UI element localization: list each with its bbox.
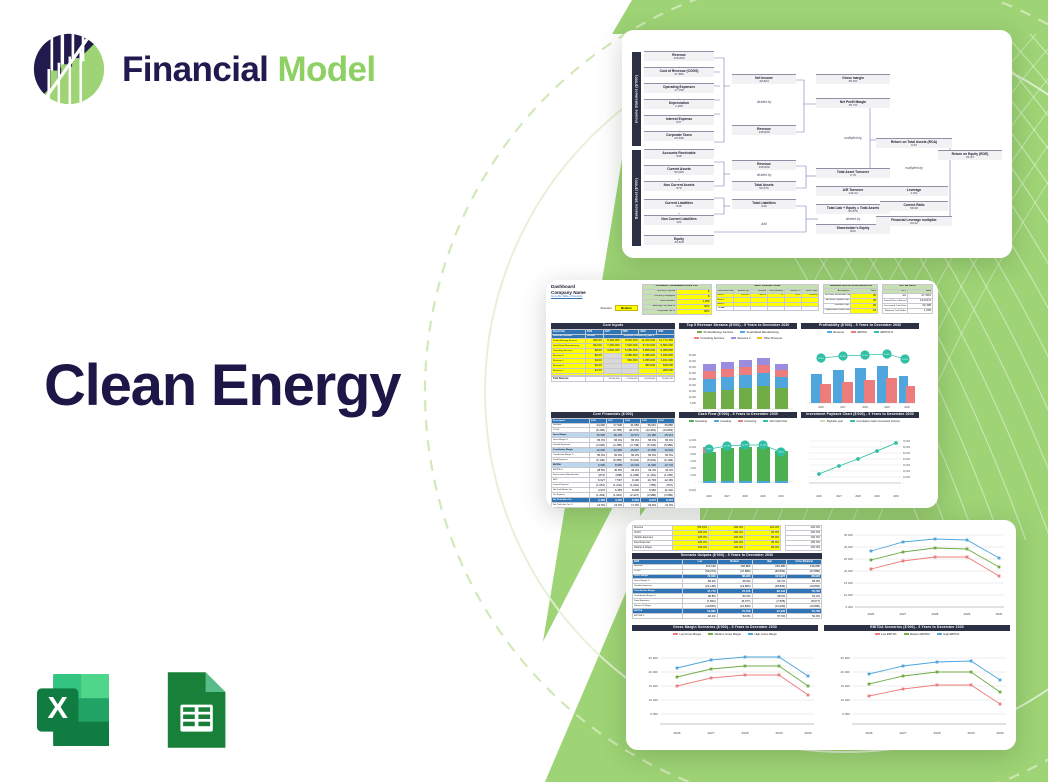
svg-text:2029: 2029 <box>760 495 766 498</box>
svg-text:45,000: 45,000 <box>689 354 697 357</box>
node-equity: Equity 49,628 <box>644 235 714 245</box>
svg-text:2026: 2026 <box>674 731 681 735</box>
svg-text:2026: 2026 <box>868 612 875 616</box>
svg-text:5,000: 5,000 <box>690 402 697 405</box>
node-revenue: Revenue 136,800 <box>644 51 714 61</box>
svg-text:28.8%: 28.8% <box>818 358 824 360</box>
svg-text:2028: 2028 <box>932 612 939 616</box>
svg-text:-: - <box>695 408 696 411</box>
financial-ratio-tree-screenshot[interactable]: Income Statement ($'000) Balance Sheet (… <box>622 30 1012 258</box>
svg-text:4,000: 4,000 <box>690 468 696 470</box>
svg-text:2028: 2028 <box>934 731 941 735</box>
node-accounts-receivable: Accounts Receivable 948 <box>644 149 714 159</box>
svg-text:20,000: 20,000 <box>649 670 659 674</box>
gross-margin-scenarios-chart[interactable]: Gross Margin Scenarios ($'000) - 5 Years… <box>632 625 818 735</box>
key-metrics-panel: KEY METRICS NPVValue IRR47.48% Internal … <box>882 284 933 314</box>
node-total-liab-equity: Total Liab + Equity = Total Assets 50,57… <box>816 204 890 214</box>
svg-text:10,000: 10,000 <box>649 698 659 702</box>
svg-text:6,849: 6,849 <box>706 449 712 451</box>
svg-text:15,000: 15,000 <box>841 684 851 688</box>
node-financial-leverage-multiplier: Financial Leverage multiplier 63.22 <box>876 216 952 226</box>
section-tab-balance-sheet: Balance Sheet ($'000) <box>632 150 641 246</box>
svg-text:30.8%: 30.8% <box>840 356 846 358</box>
chart-canvas-payback: 70,00060,00050,000 40,00030,00020,000 10… <box>801 424 919 508</box>
svg-text:20,000: 20,000 <box>903 471 911 473</box>
top-revenue-streams-chart[interactable]: Top 5 Revenue Streams ($'000) - 5 Years … <box>679 323 797 409</box>
svg-text:20,000: 20,000 <box>841 670 851 674</box>
table-row: Minimum Cash Buffer1,000 <box>883 308 933 313</box>
node-revenue-ta: Revenue 136,800 <box>732 160 796 170</box>
node-net-income: Net Income 48,824 <box>732 74 796 84</box>
table-row: EBITDA %42.1%52.0%57.0%52.0% <box>633 614 822 619</box>
svg-text:2028: 2028 <box>855 495 861 498</box>
svg-text:2029: 2029 <box>884 406 890 409</box>
brand-word-financial: Financial <box>122 50 268 89</box>
chart-canvas-cash-flow: 12,00010,0008,000 6,0004,0002,000 -(2,00… <box>679 424 797 508</box>
svg-text:25,000: 25,000 <box>649 656 659 660</box>
svg-text:10,000: 10,000 <box>689 396 697 399</box>
svg-text:50,000: 50,000 <box>903 453 911 455</box>
left-content-panel: Financial Model Clean Energy X <box>0 0 470 782</box>
svg-text:5,000: 5,000 <box>650 712 658 716</box>
chart-canvas-gross-margin-scenarios: 25,00020,00015,000 10,0005,000 <box>632 637 818 747</box>
svg-text:34.4%: 34.4% <box>902 359 908 361</box>
node-current-assets: Current Assets 50,006 <box>644 165 714 175</box>
svg-text:2027: 2027 <box>900 731 907 735</box>
operator-add: Add <box>732 222 796 226</box>
svg-text:2027: 2027 <box>836 495 842 498</box>
svg-text:35,000: 35,000 <box>844 533 854 537</box>
brand-wordmark: Financial Model <box>122 52 376 87</box>
microsoft-excel-icon: X <box>28 665 118 755</box>
svg-text:15,000: 15,000 <box>844 581 854 585</box>
svg-text:2030: 2030 <box>904 406 910 409</box>
svg-text:30,000: 30,000 <box>689 372 697 375</box>
svg-text:40,000: 40,000 <box>689 360 697 363</box>
core-inputs-table[interactable]: Fiscal Year 2026 2027 2028 2029 2030 Rev… <box>551 329 675 382</box>
node-ar-turnover: A/R Turnover 144.24 <box>816 186 890 196</box>
dashboard-header: Dashboard Company Name Go to the Table o… <box>551 284 638 311</box>
core-financials-section: Core Financials ($'000) Description 2026… <box>551 412 675 500</box>
node-gross-margin: Gross margin 65.0% <box>816 74 890 84</box>
scenario-selector[interactable]: Medium <box>615 305 638 311</box>
scenario-label: Scenario <box>600 306 611 310</box>
svg-text:20,000: 20,000 <box>844 569 854 573</box>
scenario-assumptions-table[interactable]: Revenue(85.0)%100.0%110.0%100.0% COGS105… <box>632 525 822 551</box>
core-financials-table[interactable]: Description 2026 2027 2028 2029 2030 Rev… <box>551 418 675 508</box>
debt-assumptions-panel: DEBT ASSUMPTIONS Loan/Grant Name Amount … <box>716 284 820 311</box>
currency-denomination-panel: CURRENCY DENOMINATION & TAX Currency Sym… <box>642 284 712 315</box>
node-interest-expense: Interest Expense 537 <box>644 115 714 125</box>
node-leverage: Leverage 1.9% <box>880 186 948 196</box>
svg-text:25,000: 25,000 <box>844 557 854 561</box>
svg-text:10,739: 10,739 <box>724 446 731 448</box>
cash-flow-chart[interactable]: Cash Flow ($'000) - 5 Years to December … <box>679 412 797 500</box>
node-revenue-denominator: Revenue 136,800 <box>732 125 796 135</box>
svg-text:2026: 2026 <box>818 406 824 409</box>
brand-word-model: Model <box>277 50 375 89</box>
svg-text:2027: 2027 <box>708 731 715 735</box>
svg-text:25,000: 25,000 <box>689 378 697 381</box>
svg-text:2029: 2029 <box>776 731 783 735</box>
section-tab-income-statement: Income Statement ($'000) <box>632 52 641 146</box>
page-title: Clean Energy <box>44 356 400 417</box>
node-total-assets: Total Assets 50,576 <box>732 181 796 191</box>
svg-text:11,792: 11,792 <box>742 445 749 447</box>
svg-text:2,000: 2,000 <box>690 475 696 477</box>
svg-text:2030: 2030 <box>997 731 1004 735</box>
scenario-outputs-table[interactable]: 2030 Low Medium High Active (Medium) Rev… <box>632 559 822 619</box>
dupont-ratio-tree: Income Statement ($'000) Balance Sheet (… <box>628 36 1006 252</box>
svg-text:2026: 2026 <box>706 495 712 498</box>
table-of-contents-link[interactable]: Go to the Table of Contents <box>551 295 638 298</box>
node-current-ratio: Current Ratio 58.98 <box>880 201 948 211</box>
svg-text:2027: 2027 <box>724 495 730 498</box>
chart-canvas-revenue-scenarios: 35,00030,00025,000 20,00015,00010,000 5,… <box>828 525 1010 621</box>
svg-text:40,000: 40,000 <box>903 459 911 461</box>
financial-dashboard-screenshot[interactable]: Dashboard Company Name Go to the Table o… <box>546 280 938 508</box>
svg-text:60,000: 60,000 <box>903 447 911 449</box>
svg-text:10,000: 10,000 <box>689 447 697 449</box>
core-inputs-section: Core Inputs Fiscal Year 2026 2027 2028 2… <box>551 323 675 409</box>
svg-text:-: - <box>903 483 904 485</box>
node-non-current-liabilities: Non Current Liabilities 101 <box>644 215 714 225</box>
node-non-current-assets: Non Current Assets 570 <box>644 181 714 191</box>
svg-text:12,000: 12,000 <box>689 440 697 442</box>
node-current-liabilities: Current Liabilities 848 <box>644 199 714 209</box>
pie-bar-chart-circle-logo-icon <box>30 30 108 108</box>
svg-text:-: - <box>695 482 696 484</box>
svg-text:2029: 2029 <box>964 612 971 616</box>
svg-text:X: X <box>47 691 68 725</box>
svg-text:2027: 2027 <box>900 612 907 616</box>
google-sheets-icon <box>148 665 238 755</box>
svg-text:10,000: 10,000 <box>903 477 911 479</box>
operator-divided-by-1: divided by <box>732 100 796 104</box>
svg-text:25,000: 25,000 <box>841 656 851 660</box>
svg-text:5,000: 5,000 <box>842 712 850 716</box>
operator-divided-by-2: divided by <box>732 173 796 177</box>
table-row-total: Total Revenue 24,000,000 27,900,000 31,6… <box>552 377 675 381</box>
svg-text:70,000: 70,000 <box>903 441 911 443</box>
svg-text:8,000: 8,000 <box>690 454 696 456</box>
table-row: Depreciation Useful Years10 <box>824 308 878 313</box>
investment-payback-chart[interactable]: Investment Payback Chart ($'000) - 5 Yea… <box>801 412 919 500</box>
scenario-left-column: Revenue(85.0)%100.0%110.0%100.0% COGS105… <box>632 525 822 621</box>
slide-canvas: Financial Model Clean Energy X <box>0 0 1048 782</box>
brand-lockup: Financial Model <box>30 30 376 108</box>
svg-text:6,000: 6,000 <box>690 461 696 463</box>
svg-text:5,000: 5,000 <box>845 605 853 609</box>
node-cogs: Cost of Revenue (COGS) 47,880 <box>644 67 714 77</box>
svg-text:2026: 2026 <box>866 731 873 735</box>
node-net-profit-margin: Net Profit Margin 35.7% <box>816 98 890 108</box>
svg-text:10,106: 10,106 <box>760 445 767 447</box>
table-row: TOTAL <box>716 306 819 310</box>
svg-text:10,000: 10,000 <box>841 698 851 702</box>
app-compatibility-icons: X <box>28 665 238 755</box>
node-depreciation: Depreciation 1,265 <box>644 99 714 109</box>
svg-text:2030: 2030 <box>996 612 1003 616</box>
profitability-chart[interactable]: Profitability ($'000) - 5 Years to Decem… <box>801 323 919 409</box>
node-corporate-taxes: Corporate Taxes 20,536 <box>644 131 714 141</box>
svg-text:32.2%: 32.2% <box>862 355 868 357</box>
svg-text:15,000: 15,000 <box>649 684 659 688</box>
svg-text:2030: 2030 <box>805 731 812 735</box>
svg-text:2029: 2029 <box>874 495 880 498</box>
svg-text:35,000: 35,000 <box>689 366 697 369</box>
svg-text:(2,000): (2,000) <box>689 490 697 492</box>
svg-text:33.4%: 33.4% <box>884 354 890 356</box>
svg-text:2029: 2029 <box>968 731 975 735</box>
svg-text:2030: 2030 <box>778 495 784 498</box>
svg-text:15,000: 15,000 <box>689 390 697 393</box>
svg-text:2028: 2028 <box>862 406 868 409</box>
ebitda-scenarios-chart[interactable]: EBITDA Scenarios ($'000) - 5 Years to De… <box>824 625 1010 735</box>
svg-text:2028: 2028 <box>742 731 749 735</box>
svg-text:2027: 2027 <box>840 406 846 409</box>
chart-canvas-profitability: 28.8% 30.8% 32.2% 33.4% 34.4% 2026202720… <box>801 335 919 421</box>
svg-text:30,000: 30,000 <box>903 465 911 467</box>
chart-canvas-ebitda-scenarios: 25,00020,00015,000 10,0005,000 <box>824 637 1010 747</box>
svg-text:2026: 2026 <box>816 495 822 498</box>
svg-text:8,075: 8,075 <box>778 452 784 454</box>
operator-multiplied-by-2: multiplied by <box>876 166 952 170</box>
working-capital-panel: WORKING CAPITAL & DEPRECIATION Assumptio… <box>823 284 878 314</box>
node-return-on-equity: Return on Equity (ROE) 61.03 <box>938 150 1002 160</box>
node-total-liabilities: Total Liabilities 949 <box>732 199 796 209</box>
svg-text:2030: 2030 <box>893 495 899 498</box>
svg-text:2028: 2028 <box>742 495 748 498</box>
svg-text:30,000: 30,000 <box>844 545 854 549</box>
table-row: Salaries & Wages105.0%100.0%95.0%100.0% <box>633 545 822 550</box>
node-return-on-total-assets: Return on Total Assets (ROA) 0.97 <box>876 138 952 148</box>
scenario-analysis-screenshot[interactable]: Revenue(85.0)%100.0%110.0%100.0% COGS105… <box>626 520 1016 750</box>
node-operating-expenses: Operating Expenses 17,758 <box>644 83 714 93</box>
chart-legend-revenue-streams: Product/Energy Services Small Retail Man… <box>679 329 797 341</box>
svg-text:10,000: 10,000 <box>844 593 854 597</box>
svg-text:20,000: 20,000 <box>689 384 697 387</box>
revenue-scenarios-chart[interactable]: 35,00030,00025,000 20,00015,00010,000 5,… <box>828 525 1010 621</box>
